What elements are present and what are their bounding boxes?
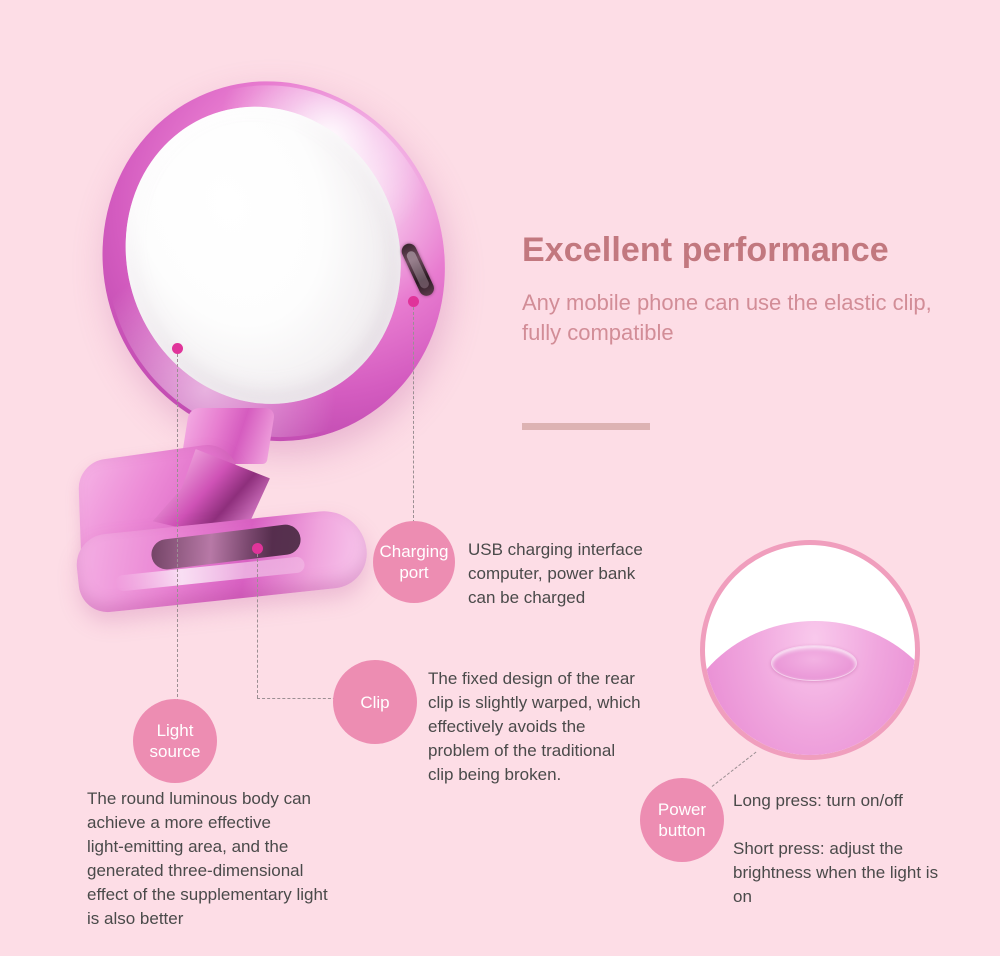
callout-text-power-button-line1: Long press: turn on/off xyxy=(733,789,983,813)
zoom-mirror-back-surface xyxy=(700,621,920,760)
callout-badge-label: Power button xyxy=(644,799,720,841)
callout-badge-charging-port[interactable]: Charging port xyxy=(373,521,455,603)
power-button-zoom-inset xyxy=(700,540,920,760)
callout-text-light-source: The round luminous body can achieve a mo… xyxy=(87,787,397,931)
product-image xyxy=(55,70,455,600)
callout-badge-label: Clip xyxy=(360,692,389,713)
leader-line-clip-vertical xyxy=(257,554,258,698)
mirror-assembly xyxy=(54,35,496,496)
callout-badge-power-button[interactable]: Power button xyxy=(640,778,724,862)
anchor-dot-light-source xyxy=(172,343,183,354)
zoom-power-button xyxy=(771,645,857,681)
leader-line-light-source xyxy=(177,354,178,702)
page-subtitle: Any mobile phone can use the elastic cli… xyxy=(522,288,972,348)
anchor-dot-clip xyxy=(252,543,263,554)
callout-badge-label: Charging port xyxy=(377,541,451,583)
leader-line-clip-horizontal xyxy=(257,698,341,699)
callout-text-charging-port: USB charging interface computer, power b… xyxy=(468,538,688,610)
callout-badge-label: Light source xyxy=(137,720,213,762)
callout-text-clip: The fixed design of the rear clip is sli… xyxy=(428,667,688,787)
leader-line-charging-port xyxy=(413,307,414,523)
callout-text-power-button-line2: Short press: adjust the brightness when … xyxy=(733,837,983,909)
leader-line-power-button xyxy=(712,752,757,787)
callout-badge-light-source[interactable]: Light source xyxy=(133,699,217,783)
page-title: Excellent performance xyxy=(522,228,972,272)
callout-badge-clip[interactable]: Clip xyxy=(333,660,417,744)
headline-block: Excellent performance Any mobile phone c… xyxy=(522,228,972,348)
title-divider-rule xyxy=(522,423,650,430)
anchor-dot-charging-port xyxy=(408,296,419,307)
infographic-canvas: Excellent performance Any mobile phone c… xyxy=(0,0,1000,956)
